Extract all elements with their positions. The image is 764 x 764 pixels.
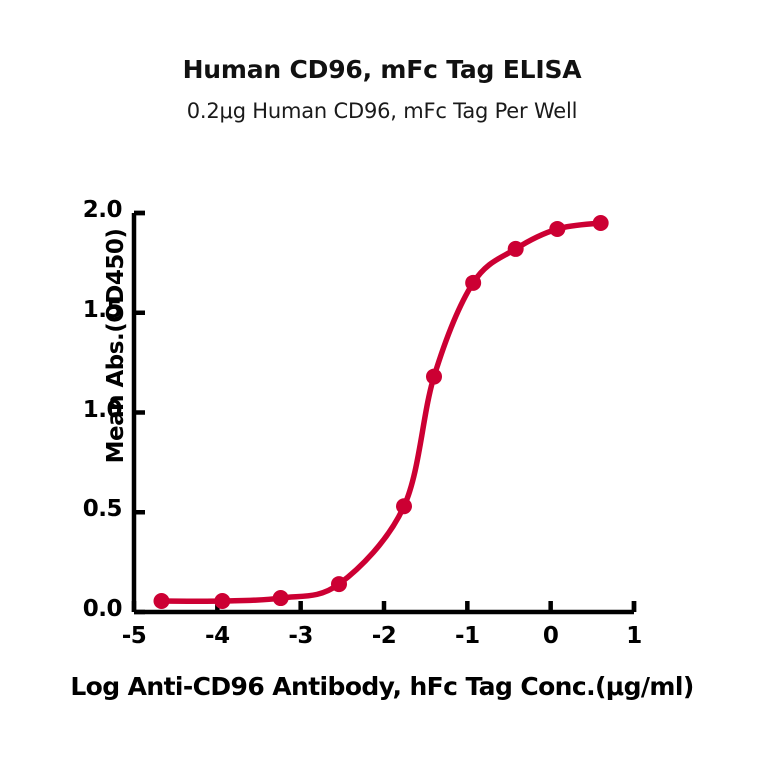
data-point-marker: [154, 593, 170, 609]
data-point-marker: [593, 215, 609, 231]
data-point-marker: [508, 241, 524, 257]
x-axis-tick-label: -1: [447, 623, 487, 649]
chart-subtitle: 0.2μg Human CD96, mFc Tag Per Well: [0, 99, 764, 123]
x-axis-tick-label: -4: [197, 623, 237, 649]
data-point-marker: [273, 590, 289, 606]
x-axis-title: Log Anti-CD96 Antibody, hFc Tag Conc.(μg…: [0, 672, 764, 701]
x-axis-tick-label: -5: [114, 623, 154, 649]
y-axis-tick-label: 1.5: [52, 297, 122, 323]
y-axis-tick-label: 0.0: [52, 596, 122, 622]
x-axis-tick-label: -2: [364, 623, 404, 649]
data-series-layer: [154, 215, 609, 609]
page-title: Human CD96, mFc Tag ELISA: [0, 55, 764, 84]
data-point-marker: [426, 369, 442, 385]
x-axis-tick-label: 0: [531, 623, 571, 649]
y-axis-tick-label: 0.5: [52, 496, 122, 522]
plot-area: Mean Abs.(OD450) 0.00.51.01.52.0 -5-4-3-…: [134, 213, 634, 612]
data-point-marker: [396, 498, 412, 514]
series-line-0: [162, 223, 601, 601]
data-point-marker: [465, 275, 481, 291]
x-axis-tick-label: -3: [281, 623, 321, 649]
y-axis-tick-label: 1.0: [52, 397, 122, 423]
x-axis-tick-label: 1: [614, 623, 654, 649]
data-point-marker: [331, 576, 347, 592]
elisa-chart-figure: Human CD96, mFc Tag ELISA 0.2μg Human CD…: [0, 0, 764, 764]
data-point-marker: [214, 593, 230, 609]
axis-spines: [134, 213, 634, 612]
data-point-marker: [549, 221, 565, 237]
plot-canvas: [134, 213, 634, 612]
y-axis-tick-label: 2.0: [52, 197, 122, 223]
y-axis-title: Mean Abs.(OD450): [103, 196, 129, 496]
